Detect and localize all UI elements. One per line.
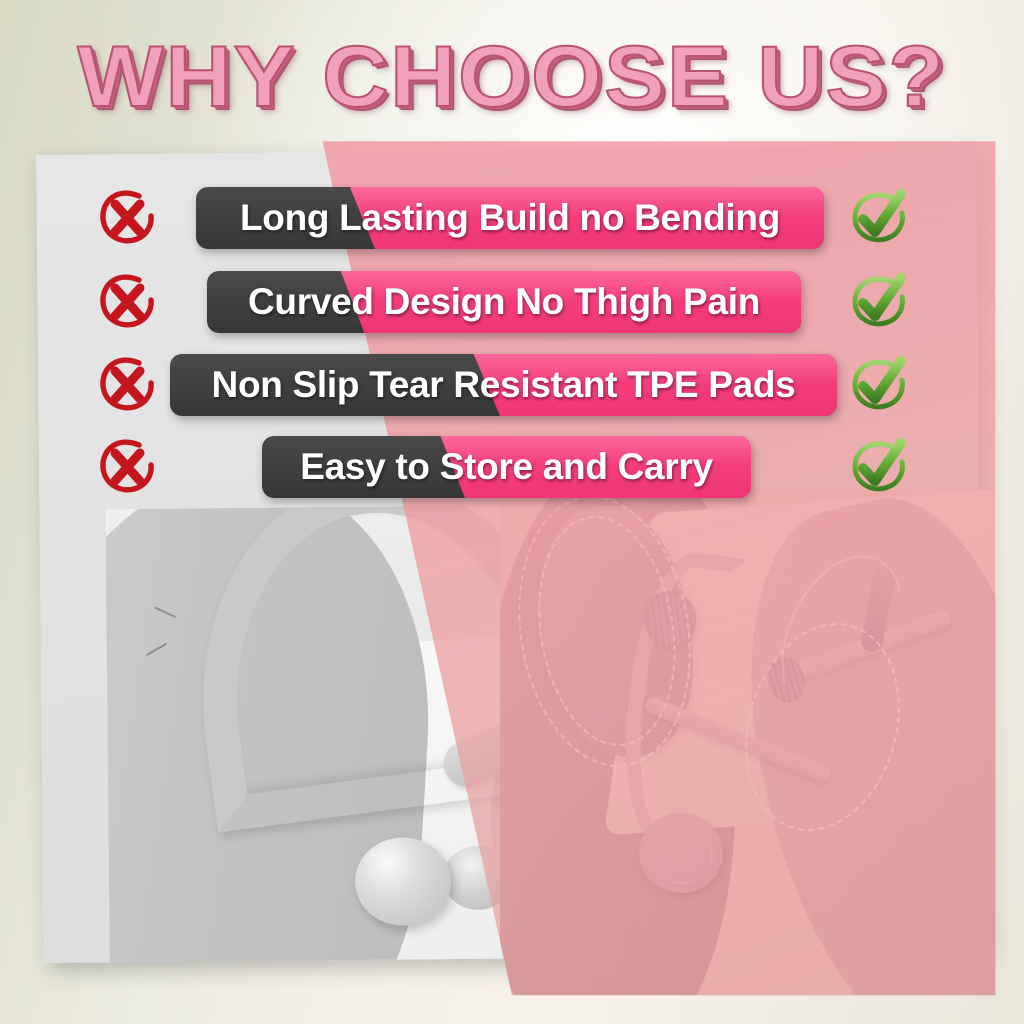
feature-pill-body[interactable]: Non Slip Tear Resistant TPE Pads	[170, 354, 837, 416]
page-title-text: WHY CHOOSE US?	[78, 28, 947, 127]
feature-label: Curved Design No Thigh Pain	[248, 281, 760, 323]
circled-cross-icon	[97, 356, 157, 414]
feature-pill-body[interactable]: Easy to Store and Carry	[262, 436, 751, 498]
circled-cross-icon	[97, 189, 157, 247]
circled-cross-icon	[97, 273, 157, 331]
comparison-row: Easy to Store and Carry	[0, 436, 1024, 498]
feature-pill-body[interactable]: Long Lasting Build no Bending	[196, 187, 824, 249]
comparison-row: Curved Design No Thigh Pain	[0, 271, 1024, 333]
circled-check-icon	[848, 438, 908, 496]
promo-banner: ╱ ╲ ╱	[0, 0, 1024, 1024]
circled-check-icon	[848, 273, 908, 331]
circled-cross-icon	[97, 438, 157, 496]
comparison-row: Non Slip Tear Resistant TPE Pads	[0, 354, 1024, 416]
feature-label: Non Slip Tear Resistant TPE Pads	[212, 364, 796, 406]
feature-pill[interactable]: Non Slip Tear Resistant TPE Pads	[170, 354, 837, 416]
circled-check-icon	[848, 189, 908, 247]
circled-check-icon	[848, 356, 908, 414]
comparison-row: Long Lasting Build no Bending	[0, 187, 1024, 249]
page-title: WHY CHOOSE US?	[0, 28, 1024, 127]
comparison-list: Long Lasting Build no Bending	[0, 0, 1024, 1024]
feature-pill[interactable]: Curved Design No Thigh Pain	[207, 271, 801, 333]
feature-pill[interactable]: Long Lasting Build no Bending	[196, 187, 824, 249]
feature-pill[interactable]: Easy to Store and Carry	[262, 436, 751, 498]
feature-pill-body[interactable]: Curved Design No Thigh Pain	[207, 271, 801, 333]
feature-label: Easy to Store and Carry	[300, 446, 713, 488]
feature-label: Long Lasting Build no Bending	[240, 197, 780, 239]
